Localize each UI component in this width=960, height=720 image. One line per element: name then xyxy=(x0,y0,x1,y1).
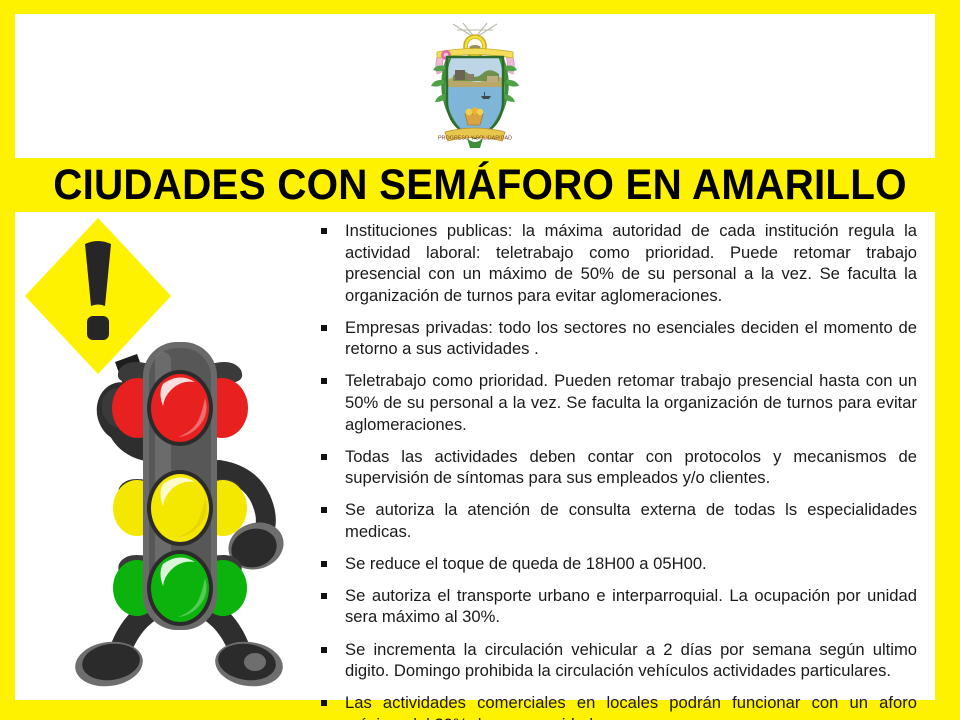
lamp-green xyxy=(147,550,213,626)
list-item: Teletrabajo como prioridad. Pueden retom… xyxy=(313,370,917,435)
list-item: Instituciones publicas: la máxima autori… xyxy=(313,220,917,306)
lamp-red xyxy=(147,370,213,446)
lamp-yellow xyxy=(147,470,213,546)
content-panel: Instituciones publicas: la máxima autori… xyxy=(15,212,935,700)
list-item: Se autoriza el transporte urbano e inter… xyxy=(313,585,917,628)
crest-motto: PROGRESO Y SOLIDARIDAD xyxy=(438,136,512,142)
measures-list: Instituciones publicas: la máxima autori… xyxy=(313,220,917,720)
illustration-column xyxy=(15,212,310,700)
list-item: Se reduce el toque de queda de 18H00 a 0… xyxy=(313,553,917,575)
coat-of-arms-icon: PROGRESO Y SOLIDARIDAD xyxy=(423,22,527,150)
list-item: Empresas privadas: todo los sectores no … xyxy=(313,317,917,360)
list-item: Se autoriza la atención de consulta exte… xyxy=(313,499,917,542)
measures-column: Instituciones publicas: la máxima autori… xyxy=(310,212,935,700)
title-band: CIUDADES CON SEMÁFORO EN AMARILLO xyxy=(0,158,960,212)
list-item: Las actividades comerciales en locales p… xyxy=(313,692,917,720)
list-item: Se incrementa la circulación vehicular a… xyxy=(313,639,917,682)
header-panel: PROGRESO Y SOLIDARIDAD xyxy=(15,14,935,158)
list-item: Todas las actividades deben contar con p… xyxy=(313,446,917,489)
traffic-light-mascot-icon xyxy=(23,212,313,700)
poster: PROGRESO Y SOLIDARIDAD CIUDADES CON SEMÁ… xyxy=(0,0,960,720)
page-title: CIUDADES CON SEMÁFORO EN AMARILLO xyxy=(53,164,907,207)
